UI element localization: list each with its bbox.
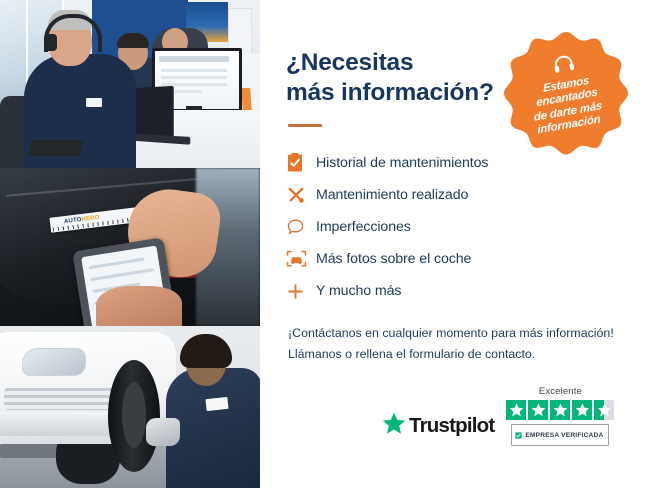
feature-item-much-more: Y mucho más: [286, 275, 628, 307]
speech-bubble-icon: [286, 218, 316, 237]
feature-label: Imperfecciones: [316, 219, 411, 235]
feature-label: Mantenimiento realizado: [316, 187, 468, 203]
photo2-hand-lower: [96, 286, 182, 326]
rating-label: Excelente: [539, 386, 582, 397]
photo2-tablet-line: [91, 268, 155, 281]
star-icon-4: [572, 400, 592, 420]
plus-icon: [286, 282, 316, 301]
trustpilot-star-icon: [382, 412, 406, 440]
feature-label: Y mucho más: [316, 283, 401, 299]
photo1-monitor-row: [161, 76, 227, 79]
photo-collage: AUTOHERO: [0, 0, 260, 488]
photo3-tyre-sidewall: [122, 382, 146, 448]
verified-label: EMPRESA VERIFICADA: [525, 432, 603, 439]
feature-label: Historial de mantenimientos: [316, 155, 488, 171]
photo2-tablet-line: [89, 258, 145, 270]
clipboard-check-icon: [286, 153, 316, 173]
title-divider: [288, 124, 322, 127]
photo1-agent-badge: [86, 98, 102, 107]
heading-line-1: ¿Necesitas: [286, 49, 413, 76]
car-scan-icon: [286, 249, 316, 269]
photo3-technician-body: [166, 368, 260, 488]
contact-paragraph: ¡Contáctanos en cualquier momento para m…: [288, 323, 628, 364]
photo1-monitor-toolbar: [159, 56, 229, 62]
star-icon-5-half: [594, 400, 614, 420]
photo3-technician-badge: [205, 397, 228, 411]
feature-list: Historial de mantenimientos Mantenimient…: [286, 147, 628, 307]
badge-content: Estamos encantados de darte más informac…: [492, 20, 640, 168]
headset-icon: [551, 53, 577, 79]
star-icon-1: [506, 400, 526, 420]
contact-line-2: Llámanos o rellena el formulario de cont…: [288, 344, 628, 364]
vehicle-inspection-photo: AUTOHERO: [0, 168, 260, 326]
star-rating: [506, 400, 614, 420]
call-center-agent-photo: [0, 0, 260, 168]
photo1-monitor-row: [161, 69, 227, 72]
page-title: ¿Necesitas más información?: [286, 48, 506, 108]
star-icon-3: [550, 400, 570, 420]
photo1-tablet: [28, 140, 83, 156]
feature-label: Más fotos sobre el coche: [316, 251, 471, 267]
trustpilot-wordmark: Trustpilot: [409, 414, 494, 438]
trustpilot-logo[interactable]: Trustpilot: [382, 412, 494, 446]
tools-icon: [286, 185, 316, 205]
photo1-headset-earcup: [44, 34, 57, 51]
photo3-headlight: [22, 348, 86, 376]
starburst-badge: Estamos encantados de darte más informac…: [502, 30, 630, 158]
info-banner: AUTOHERO: [0, 0, 650, 488]
contact-line-1: ¡Contáctanos en cualquier momento para m…: [288, 323, 628, 343]
feature-item-imperfections: Imperfecciones: [286, 211, 628, 243]
trustpilot-rating: Excelente: [506, 386, 614, 446]
photo3-glove: [146, 418, 180, 446]
tyre-service-photo: [0, 326, 260, 488]
heading-line-2: más información?: [286, 79, 494, 106]
badge-text: Estamos encantados de darte más informac…: [532, 73, 604, 139]
feature-item-maintenance-done: Mantenimiento realizado: [286, 179, 628, 211]
verified-badge: EMPRESA VERIFICADA: [511, 424, 609, 446]
check-square-icon: [515, 426, 522, 444]
trustpilot-widget[interactable]: Trustpilot Excelente: [382, 386, 614, 446]
photo1-person-middle-hair: [117, 33, 149, 48]
star-icon-2: [528, 400, 548, 420]
feature-item-more-photos: Más fotos sobre el coche: [286, 243, 628, 275]
